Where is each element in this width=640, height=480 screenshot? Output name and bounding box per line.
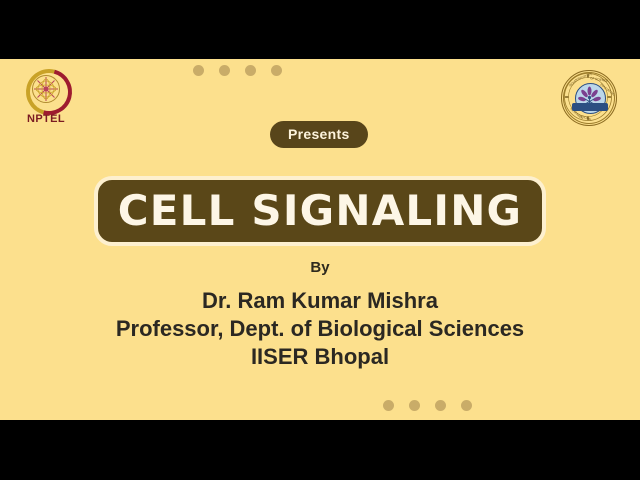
decorative-dot: [245, 65, 256, 76]
credits-block: By Dr. Ram Kumar Mishra Professor, Dept.…: [0, 257, 640, 371]
iiser-logo: INDIAN INSTITUTE OF SCIENCE EDUCATION RE…: [557, 68, 621, 130]
slide-canvas: NPTEL INDIAN INSTITUTE OF: [0, 59, 640, 420]
nptel-emblem-icon: [24, 68, 68, 112]
decorative-dot: [219, 65, 230, 76]
presenter-name: Dr. Ram Kumar Mishra: [0, 287, 640, 315]
decorative-dots-bottom: [383, 400, 472, 411]
decorative-dot: [383, 400, 394, 411]
letterbox-bar-top: [0, 0, 640, 59]
letterbox-bar-bottom: [0, 420, 640, 480]
decorative-dot: [409, 400, 420, 411]
decorative-dot: [435, 400, 446, 411]
video-title-card: NPTEL INDIAN INSTITUTE OF: [0, 0, 640, 480]
nptel-logo: NPTEL: [16, 68, 76, 130]
presents-badge: Presents: [270, 121, 368, 148]
decorative-dot: [271, 65, 282, 76]
by-label: By: [0, 257, 640, 279]
iiser-banner-icon: [572, 103, 608, 111]
nptel-starburst-icon: [32, 75, 60, 103]
presenter-affiliation: Professor, Dept. of Biological Sciences: [0, 315, 640, 343]
presenter-institute: IISER Bhopal: [0, 343, 640, 371]
decorative-dots-top: [193, 65, 282, 76]
iiser-seal-icon: INDIAN INSTITUTE OF SCIENCE EDUCATION RE…: [561, 70, 617, 126]
decorative-dot: [193, 65, 204, 76]
decorative-dot: [461, 400, 472, 411]
title-plaque: CELL SIGNALING: [94, 176, 546, 246]
page-title: CELL SIGNALING: [118, 190, 522, 232]
svg-text:OF SCIENCE: OF SCIENCE: [590, 76, 609, 83]
